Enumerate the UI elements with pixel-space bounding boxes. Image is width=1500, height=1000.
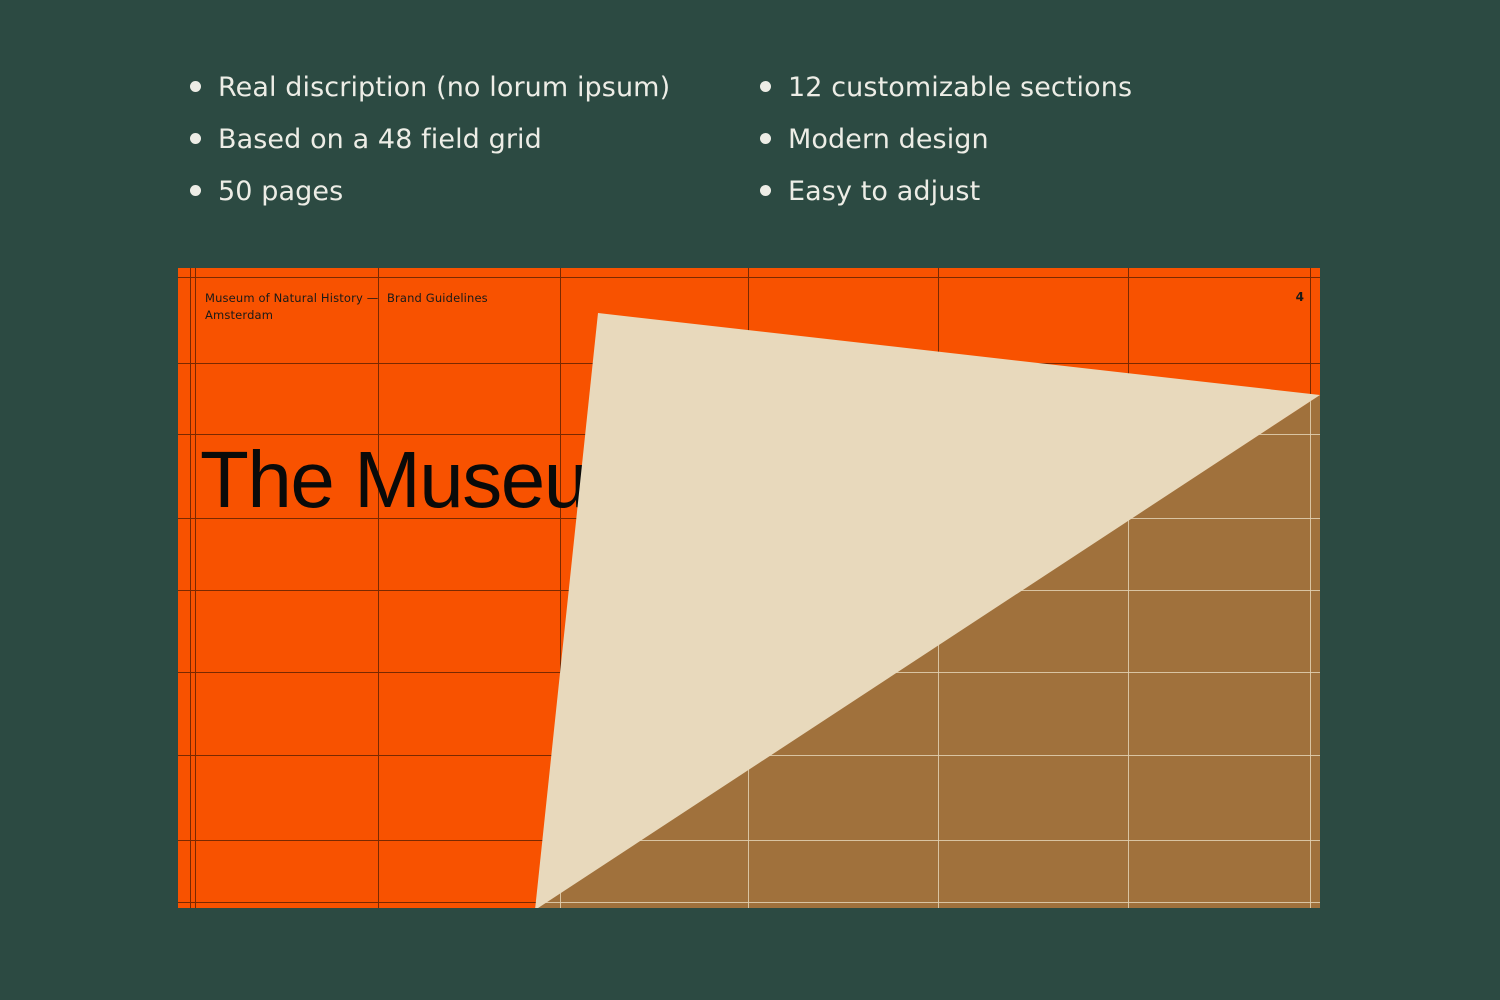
list-item: 50 pages — [190, 178, 760, 230]
feature-column-left: Real discription (no lorum ipsum) Based … — [190, 74, 760, 230]
grid-row-line-short — [178, 518, 198, 519]
page-number: 4 — [1296, 290, 1304, 304]
feature-label: Easy to adjust — [788, 178, 980, 205]
grid-column-line — [1310, 268, 1311, 908]
page-headline: The Museu — [200, 440, 587, 520]
grid-column-line — [1128, 268, 1129, 908]
feature-label: 12 customizable sections — [788, 74, 1132, 101]
bullet-icon — [760, 81, 771, 92]
grid-column-line — [195, 268, 196, 908]
feature-list: Real discription (no lorum ipsum) Based … — [190, 74, 1290, 230]
bullet-icon — [190, 133, 201, 144]
list-item: Easy to adjust — [760, 178, 1260, 230]
bullet-icon — [190, 81, 201, 92]
grid-row-line — [178, 840, 1320, 841]
bullet-icon — [760, 185, 771, 196]
feature-label: Based on a 48 field grid — [218, 126, 542, 153]
bullet-icon — [190, 185, 201, 196]
page-preview: Museum of Natural History — Amsterdam Br… — [178, 268, 1320, 908]
list-item: Modern design — [760, 126, 1260, 178]
header-organization: Museum of Natural History — Amsterdam — [205, 290, 385, 323]
list-item: Based on a 48 field grid — [190, 126, 760, 178]
grid-column-line — [195, 268, 196, 908]
grid-column-line — [378, 268, 379, 908]
grid-row-line — [178, 902, 1320, 903]
feature-label: Real discription (no lorum ipsum) — [218, 74, 670, 101]
grid-column-line — [378, 268, 379, 908]
grid-row-line-short — [178, 518, 198, 519]
feature-label: Modern design — [788, 126, 989, 153]
list-item: Real discription (no lorum ipsum) — [190, 74, 760, 126]
bullet-icon — [760, 133, 771, 144]
list-item: 12 customizable sections — [760, 74, 1260, 126]
feature-label: 50 pages — [218, 178, 343, 205]
grid-column-line — [190, 268, 191, 908]
grid-column-line — [190, 268, 191, 908]
header-document-title: Brand Guidelines — [387, 290, 567, 307]
feature-column-right: 12 customizable sections Modern design E… — [760, 74, 1260, 230]
